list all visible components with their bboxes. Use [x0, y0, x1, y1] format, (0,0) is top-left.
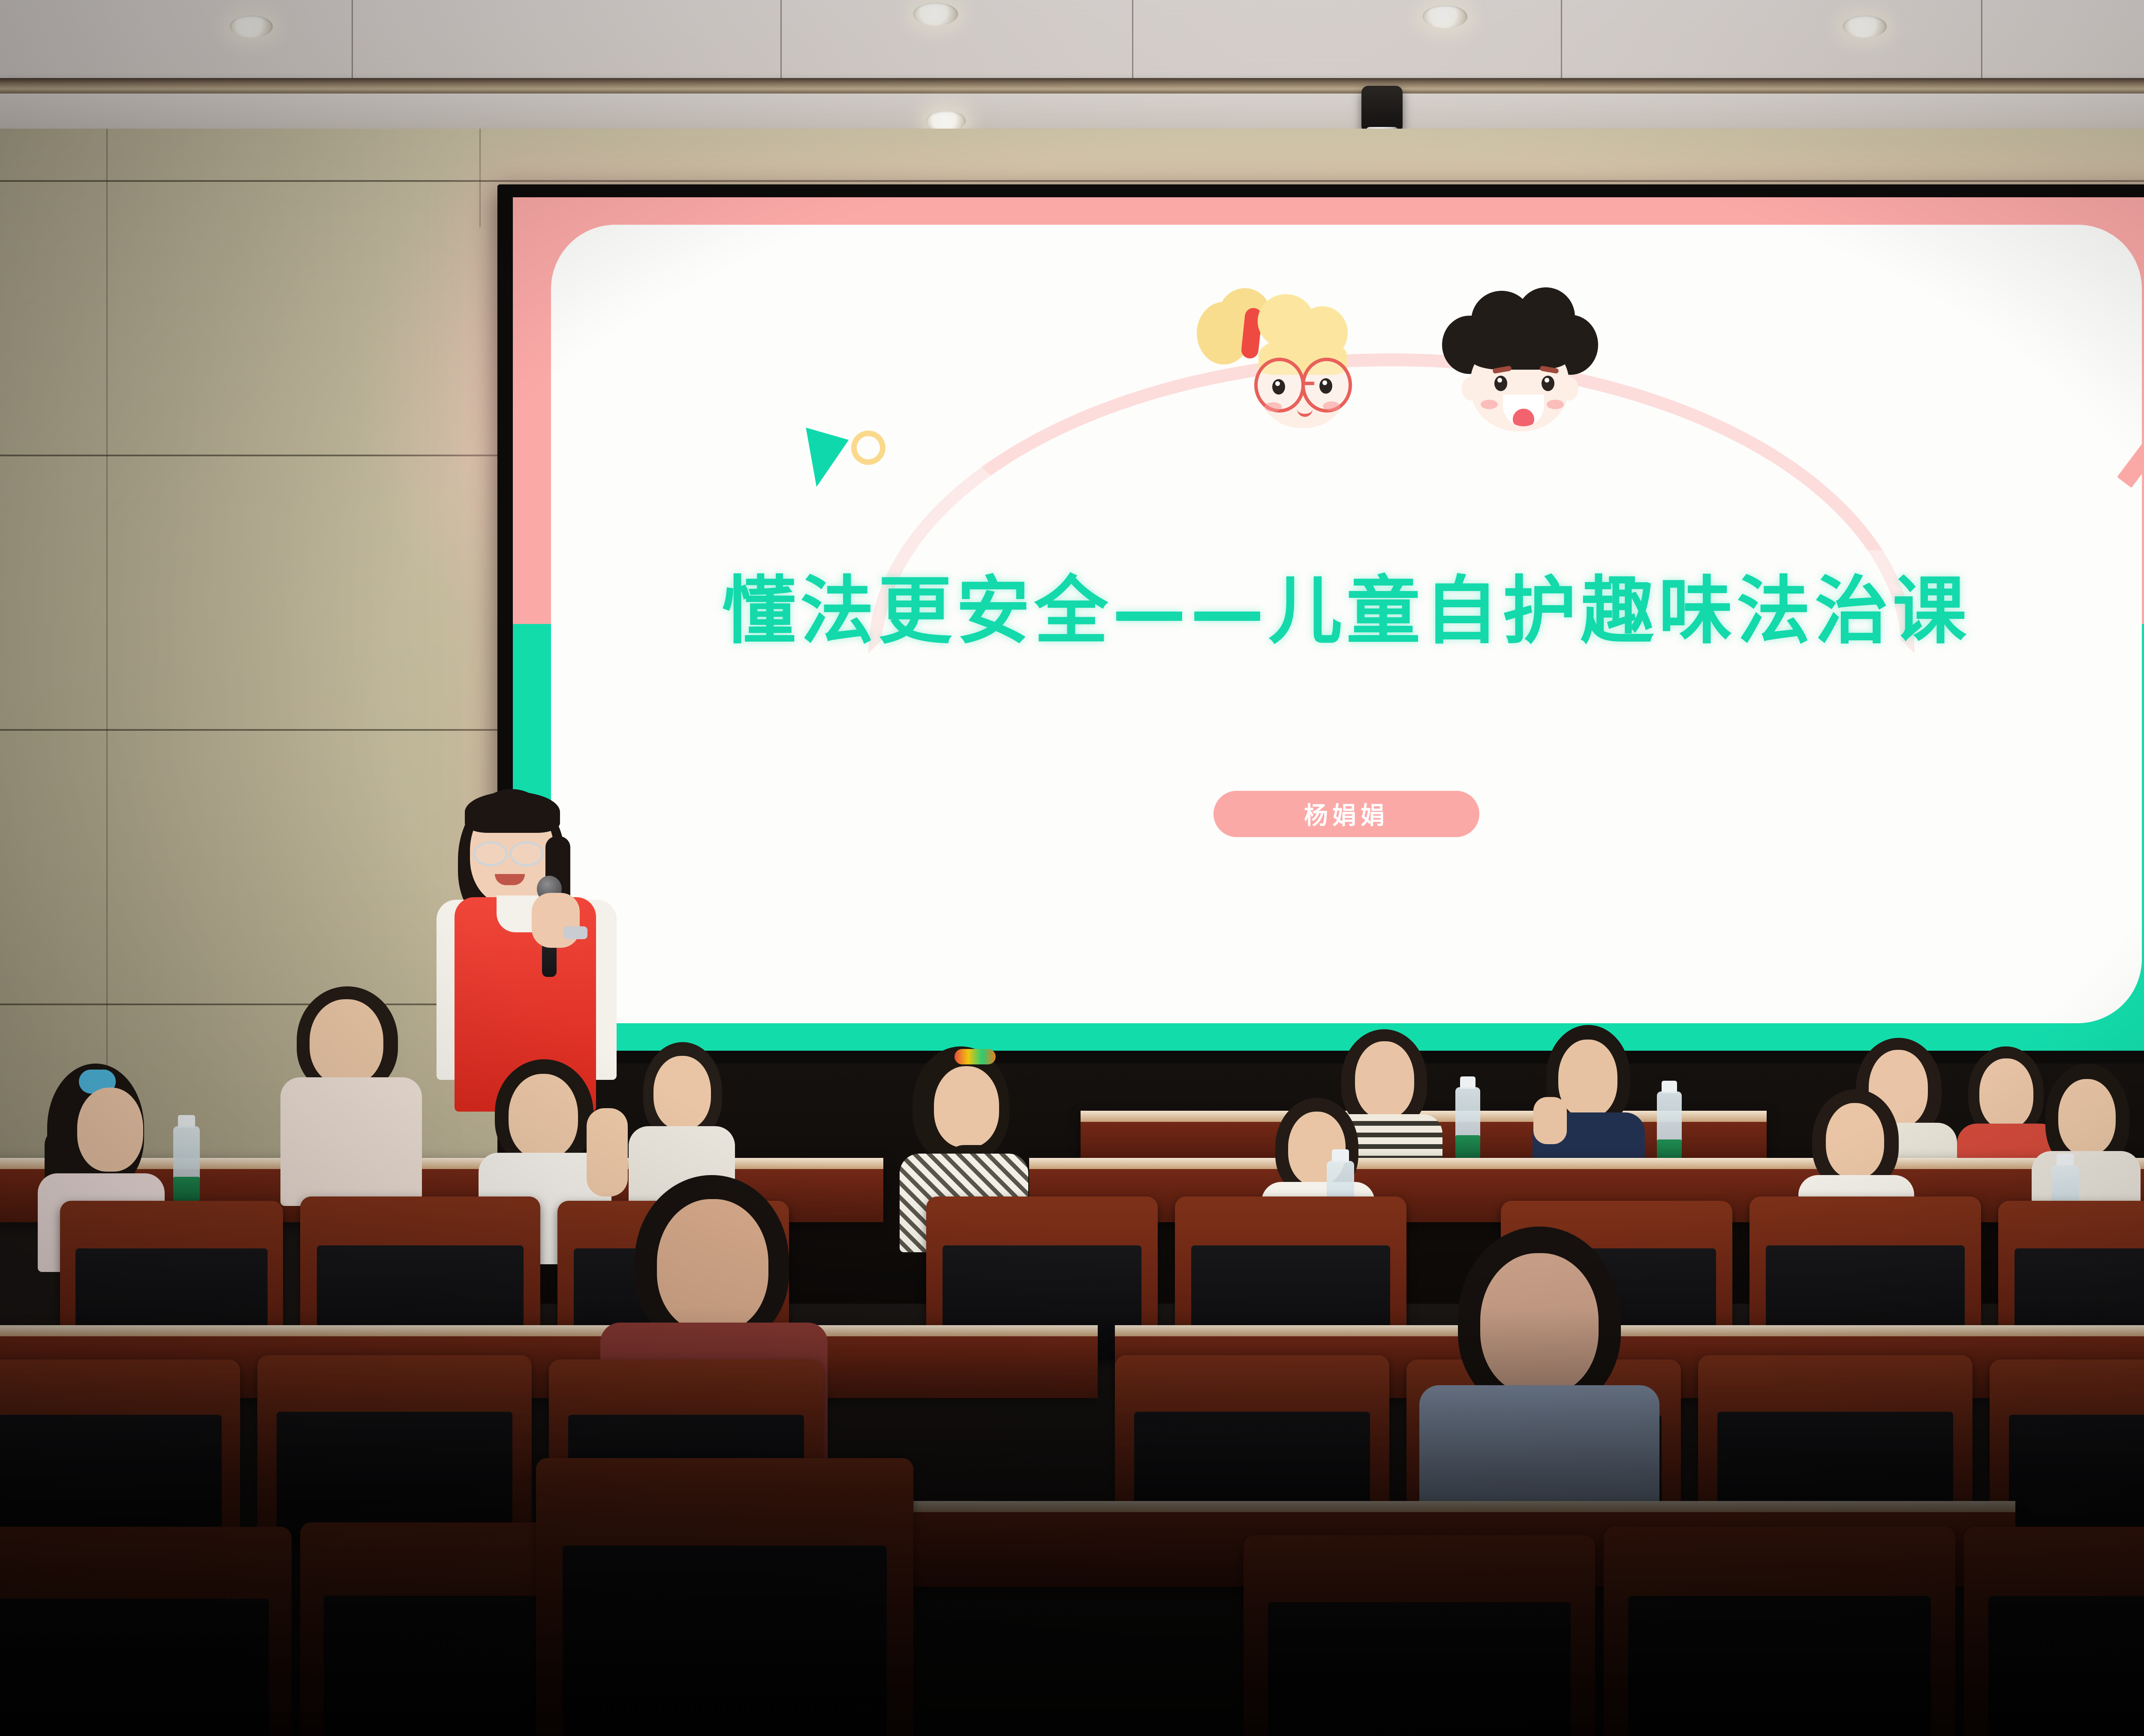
ceiling-beam [0, 78, 2144, 93]
presenter-name-badge: 杨娟娟 [1214, 791, 1479, 837]
auditorium-seat[interactable] [1604, 1527, 1955, 1736]
screen-surface: 懂法更安全——儿童自护趣味法治课 杨娟娟 [513, 197, 2144, 1051]
presenter-watch-icon [563, 926, 587, 939]
ceiling-downlight [926, 111, 966, 131]
ceiling-downlight [1423, 5, 1467, 28]
auditorium-seat[interactable] [0, 1359, 240, 1544]
auditorium-seat[interactable] [1964, 1527, 2144, 1736]
yellow-ring-icon [851, 431, 885, 465]
auditorium-seat-foreground[interactable] [536, 1458, 913, 1736]
ear-icon [1462, 377, 1481, 401]
water-bottle[interactable] [1454, 1076, 1482, 1158]
projector-icon [1361, 86, 1403, 133]
presenter-hand [532, 893, 580, 948]
auditorium-seat[interactable] [257, 1355, 532, 1544]
cartoon-girl-blonde-glasses-icon [1194, 286, 1379, 440]
ceiling-downlight [913, 3, 958, 26]
presenter-glasses-icon [473, 841, 508, 866]
auditorium-seat[interactable] [0, 1527, 292, 1736]
auditorium-photo: 懂法更安全——儿童自护趣味法治课 杨娟娟 [0, 0, 2144, 1736]
presenter-name-label: 杨娟娟 [1304, 796, 1389, 831]
hair-clip-icon [955, 1049, 996, 1064]
cartoon-boy-curly-black-icon [1434, 285, 1606, 439]
wall-seam [479, 129, 481, 227]
presenter-glasses-icon [509, 841, 544, 866]
presentation-slide: 懂法更安全——儿童自护趣味法治课 杨娟娟 [513, 197, 2144, 1051]
ear-icon [1560, 377, 1578, 401]
raised-hand [1533, 1097, 1567, 1144]
ceiling-downlight [1843, 15, 1887, 38]
presenter-fringe [465, 792, 560, 833]
auditorium-seat[interactable] [1244, 1535, 1595, 1736]
audience-child [274, 986, 429, 1192]
water-bottle[interactable] [172, 1115, 202, 1201]
projection-screen[interactable]: 懂法更安全——儿童自护趣味法治课 杨娟娟 [497, 184, 2144, 1064]
ceiling-downlight [230, 15, 273, 38]
pink-diagonal-bar-icon [2117, 412, 2144, 488]
slide-content-card: 懂法更安全——儿童自护趣味法治课 杨娟娟 [551, 225, 2141, 1024]
teal-triangle-icon [791, 428, 849, 492]
water-bottle[interactable] [1655, 1081, 1683, 1162]
slide-title: 懂法更安全——儿童自护趣味法治课 [551, 551, 2141, 658]
